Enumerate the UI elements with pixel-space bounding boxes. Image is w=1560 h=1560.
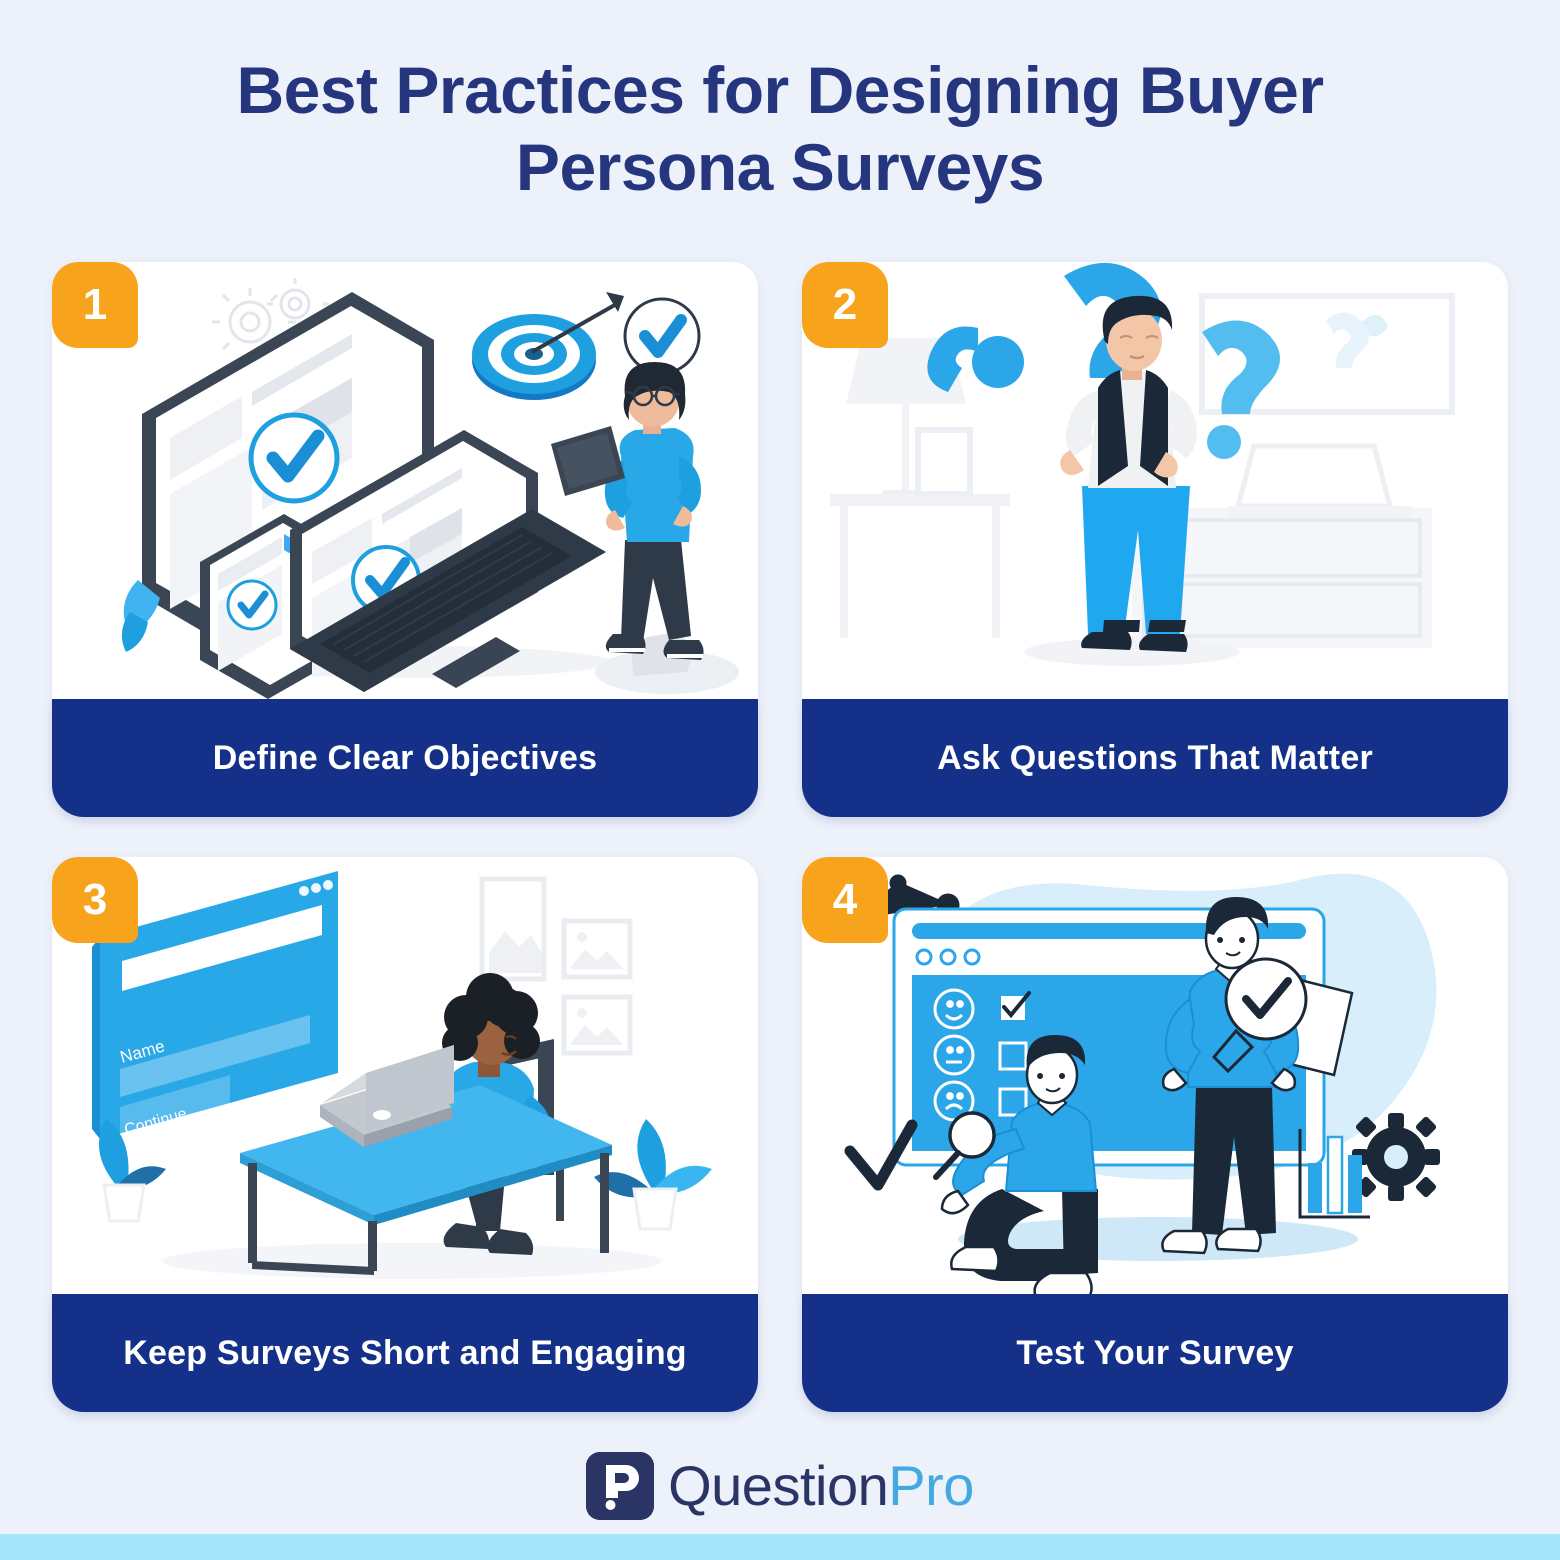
questionpro-logo[interactable]: QuestionPro (0, 1452, 1560, 1520)
questionpro-logo-mark-icon (586, 1452, 654, 1520)
card-3-illustration-area: Name Continue (52, 857, 758, 1294)
two-people-testing-survey-illustration (802, 857, 1508, 1294)
devices-checkmarks-target-person-illustration (52, 262, 758, 699)
card-2-label: Ask Questions That Matter (802, 699, 1508, 817)
practice-card-2[interactable]: 2 Ask Questions That Matter (802, 262, 1508, 817)
person-with-question-marks-illustration (802, 262, 1508, 699)
practice-card-3[interactable]: Name Continue (52, 857, 758, 1412)
card-4-label: Test Your Survey (802, 1294, 1508, 1412)
brand-question: Question (668, 1454, 888, 1517)
bottom-accent-strip (0, 1534, 1560, 1560)
questionpro-wordmark: QuestionPro (668, 1458, 974, 1514)
practice-card-4[interactable]: 4 Test Your Survey (802, 857, 1508, 1412)
page-title-line-2: Persona Surveys (170, 129, 1390, 206)
card-2-number-badge: 2 (802, 262, 888, 348)
card-1-label: Define Clear Objectives (52, 699, 758, 817)
card-4-number-badge: 4 (802, 857, 888, 943)
best-practices-grid: 1 Define Clear Objectives (52, 262, 1508, 1412)
page-title-line-1: Best Practices for Designing Buyer (170, 52, 1390, 129)
practice-card-1[interactable]: 1 Define Clear Objectives (52, 262, 758, 817)
card-1-number-badge: 1 (52, 262, 138, 348)
brand-pro: Pro (888, 1454, 974, 1517)
card-4-illustration-area: 4 (802, 857, 1508, 1294)
woman-at-desk-with-form-illustration: Name Continue (52, 857, 758, 1294)
card-3-label: Keep Surveys Short and Engaging (52, 1294, 758, 1412)
card-3-number-badge: 3 (52, 857, 138, 943)
card-2-illustration-area: 2 (802, 262, 1508, 699)
page-title: Best Practices for Designing Buyer Perso… (0, 0, 1560, 205)
card-1-illustration-area: 1 (52, 262, 758, 699)
